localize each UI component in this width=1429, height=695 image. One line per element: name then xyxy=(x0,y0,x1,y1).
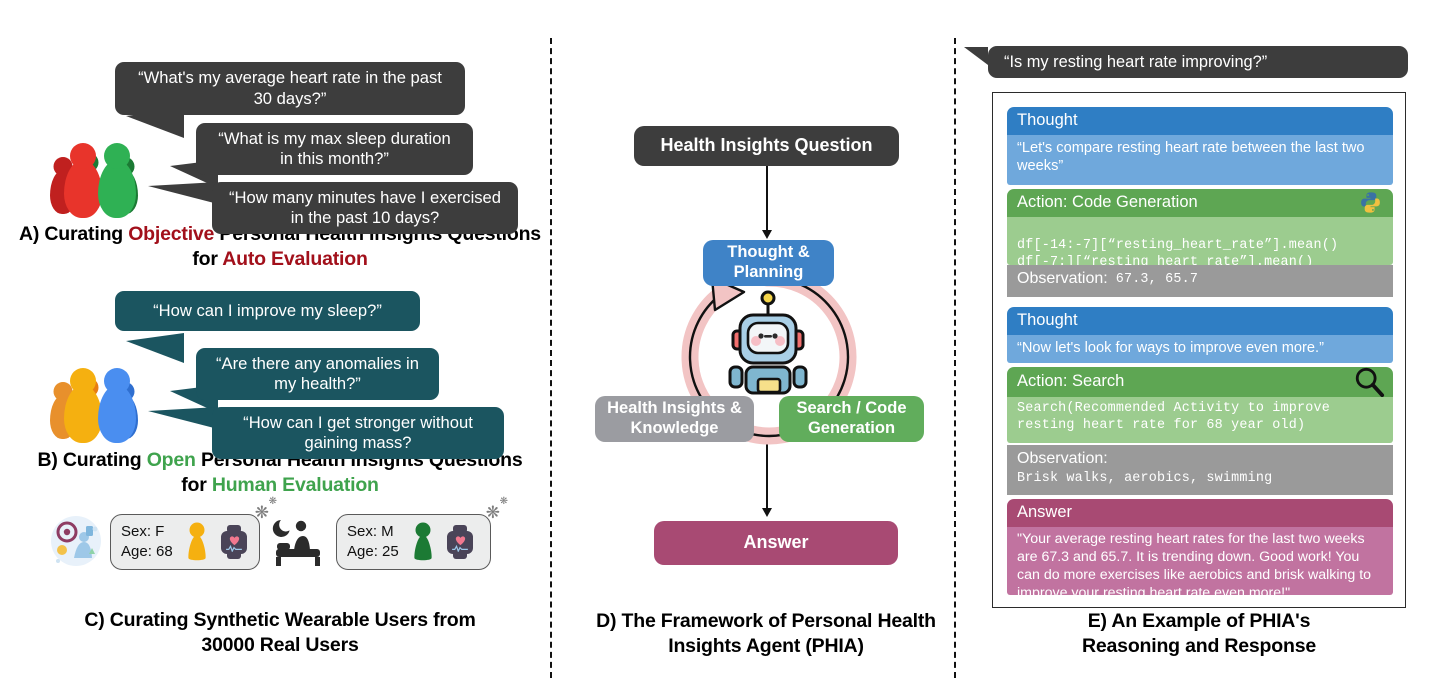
user-card-meta: Sex: F Age: 68 xyxy=(121,522,173,562)
user-question-bubble: “Is my resting heart rate improving?” xyxy=(988,46,1408,78)
question-bubble: “How can I improve my sleep?” xyxy=(115,291,420,331)
node-answer[interactable]: Answer xyxy=(654,521,898,565)
segment-body: “Now let's look for ways to improve even… xyxy=(1007,335,1393,363)
question-bubble: “Are there any anomalies in my health?” xyxy=(196,348,439,400)
segment-header: Action: Search xyxy=(1007,367,1393,397)
column-divider-left xyxy=(550,38,552,678)
reasoning-trace-container: Thought “Let's compare resting heart rat… xyxy=(992,92,1406,608)
segment-body-code: Search(Recommended Activity to improve r… xyxy=(1017,401,1330,433)
question-bubble: “How can I get stronger without gaining … xyxy=(212,407,504,459)
segment-body: Search(Recommended Activity to improve r… xyxy=(1007,397,1393,443)
segment-body-text: “Now let's look for ways to improve even… xyxy=(1017,340,1324,356)
caption-line: Reasoning and Response xyxy=(999,634,1399,659)
people-group-orange-blue-icon xyxy=(48,373,154,445)
caption-line: 30000 Real Users xyxy=(8,633,552,658)
sparkle-icon: ❋ xyxy=(255,503,269,523)
sleep-in-bed-illustration-icon xyxy=(272,516,328,568)
node-thought-planning[interactable]: Thought & Planning xyxy=(703,240,834,286)
wearable-user-card[interactable]: Sex: F Age: 68 ❋ ❋ xyxy=(110,514,260,570)
segment-header-label: Action: Code Generation xyxy=(1017,193,1198,212)
caption-span: for xyxy=(192,248,222,270)
caption-span-accent: Objective xyxy=(128,223,214,245)
caption-span: B) Curating xyxy=(38,449,147,471)
robot-mascot-icon xyxy=(723,287,813,399)
caption-line: E) An Example of PHIA's xyxy=(999,609,1399,634)
sparkle-icon: ❋ xyxy=(500,496,508,507)
observation-value: 67.3, 65.7 xyxy=(1116,272,1198,287)
sparkle-icon: ❋ xyxy=(486,503,500,523)
observation-label: Observation: xyxy=(1017,449,1383,470)
segment-header: Thought xyxy=(1007,307,1393,335)
segment-thought: Thought “Now let's look for ways to impr… xyxy=(1007,307,1393,363)
segment-action-search: Action: Search Search(Recommended Activi… xyxy=(1007,367,1393,443)
observation-label: Observation: xyxy=(1017,270,1108,288)
caption-span: for xyxy=(181,474,212,496)
caption-span-accent: Open xyxy=(147,449,196,471)
bubble-tail xyxy=(148,407,218,429)
arrow-question-to-thought xyxy=(766,166,768,232)
panel-c-caption: C) Curating Synthetic Wearable Users fro… xyxy=(8,608,552,658)
python-logo-icon xyxy=(1358,190,1383,215)
caption-line: for Auto Evaluation xyxy=(8,247,552,272)
caption-line: Insights Agent (PHIA) xyxy=(566,634,966,659)
caption-span-accent: Human Evaluation xyxy=(212,474,379,496)
user-sex: Sex: F xyxy=(121,522,173,542)
person-silhouette-icon xyxy=(411,522,435,562)
segment-header-label: Action: Search xyxy=(1017,372,1124,391)
segment-action-code-generation: Action: Code Generation df[-14:-7][“rest… xyxy=(1007,189,1393,265)
people-group-red-green-icon xyxy=(48,148,154,220)
segment-body: df[-14:-7][“resting_heart_rate”].mean() … xyxy=(1007,217,1393,265)
column-divider-right xyxy=(954,38,956,678)
segment-observation: Observation: Brisk walks, aerobics, swim… xyxy=(1007,445,1393,495)
segment-thought: Thought “Let's compare resting heart rat… xyxy=(1007,107,1393,185)
question-bubble: “What is my max sleep duration in this m… xyxy=(196,123,473,175)
node-health-insights-question[interactable]: Health Insights Question xyxy=(634,126,899,166)
node-search-code-generation[interactable]: Search / Code Generation xyxy=(779,396,924,442)
caption-line: C) Curating Synthetic Wearable Users fro… xyxy=(8,608,552,633)
user-card-meta: Sex: M Age: 25 xyxy=(347,522,399,562)
user-age: Age: 68 xyxy=(121,542,173,562)
segment-header: Answer xyxy=(1007,499,1393,527)
segment-header-label: Answer xyxy=(1017,503,1072,522)
bubble-tail xyxy=(126,333,184,363)
sparkle-icon: ❋ xyxy=(269,496,277,507)
bubble-tail xyxy=(148,182,218,204)
segment-body: "Your average resting heart rates for th… xyxy=(1007,527,1393,595)
panel-d-caption: D) The Framework of Personal Health Insi… xyxy=(566,609,966,659)
segment-observation: Observation: 67.3, 65.7 xyxy=(1007,265,1393,297)
segment-header: Thought xyxy=(1007,107,1393,135)
arrow-loop-to-answer xyxy=(766,442,768,510)
segment-body-text: "Your average resting heart rates for th… xyxy=(1017,531,1371,601)
user-sex: Sex: M xyxy=(347,522,399,542)
question-bubble: “What's my average heart rate in the pas… xyxy=(115,62,465,115)
person-silhouette-icon xyxy=(185,522,209,562)
observation-value: Brisk walks, aerobics, swimming xyxy=(1017,470,1383,489)
user-age: Age: 25 xyxy=(347,542,399,562)
arrow-head-icon xyxy=(762,230,772,239)
segment-header: Action: Code Generation xyxy=(1007,189,1393,217)
segment-answer: Answer "Your average resting heart rates… xyxy=(1007,499,1393,595)
node-health-insights-knowledge[interactable]: Health Insights & Knowledge xyxy=(595,396,754,442)
arrow-head-icon xyxy=(762,508,772,517)
caption-line: D) The Framework of Personal Health xyxy=(566,609,966,634)
segment-header-label: Thought xyxy=(1017,311,1078,330)
smartwatch-heart-rate-icon xyxy=(221,525,247,559)
question-bubble: “How many minutes have I exercised in th… xyxy=(212,182,518,234)
caption-span: A) Curating xyxy=(19,223,128,245)
magnifier-search-icon xyxy=(1353,366,1385,398)
segment-body: “Let's compare resting heart rate betwee… xyxy=(1007,135,1393,185)
panel-e-caption: E) An Example of PHIA's Reasoning and Re… xyxy=(999,609,1399,659)
caption-span-accent: Auto Evaluation xyxy=(222,248,367,270)
caption-line: for Human Evaluation xyxy=(8,473,552,498)
bubble-tail xyxy=(964,47,988,65)
segment-body-text: “Let's compare resting heart rate betwee… xyxy=(1017,140,1365,174)
smartwatch-heart-rate-icon xyxy=(447,525,473,559)
figure-canvas: “What's my average heart rate in the pas… xyxy=(0,0,1429,695)
activity-tracking-illustration-icon xyxy=(50,514,102,568)
segment-header-label: Thought xyxy=(1017,111,1078,130)
wearable-user-card[interactable]: Sex: M Age: 25 ❋ ❋ xyxy=(336,514,491,570)
